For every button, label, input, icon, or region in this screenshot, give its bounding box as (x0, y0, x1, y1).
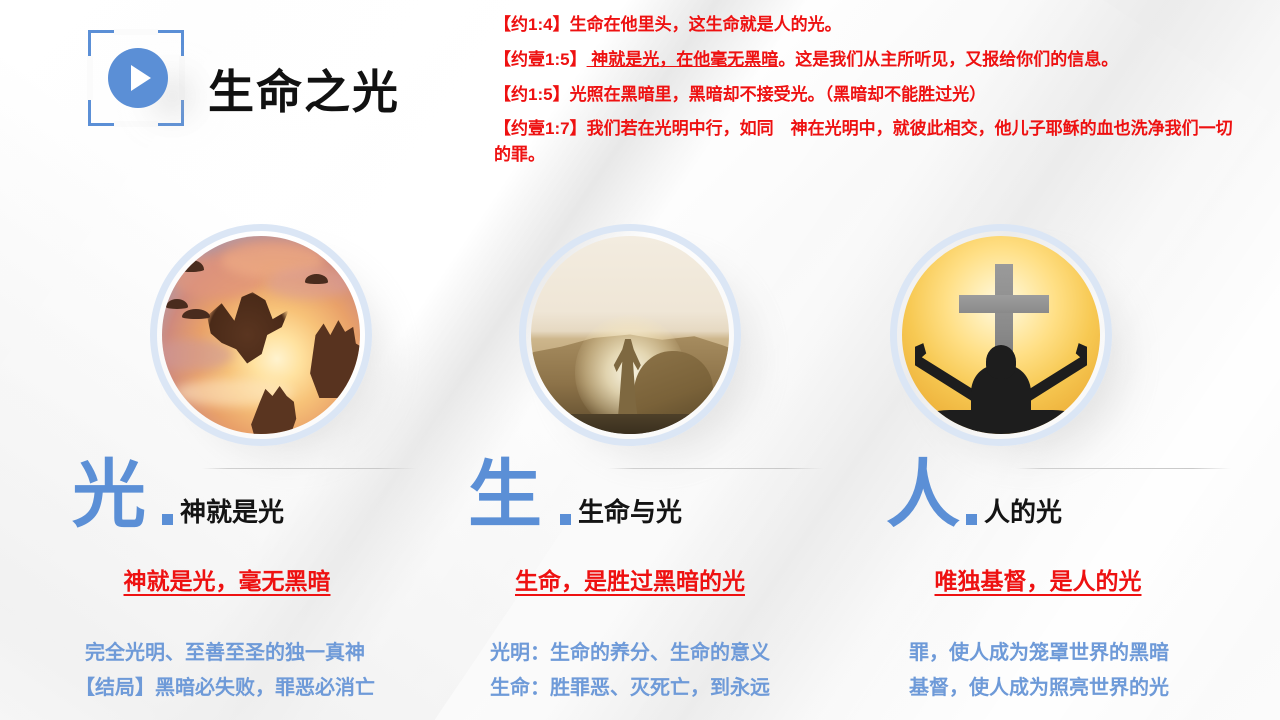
verse-reference: 【约1:4】 (494, 15, 570, 34)
column-red-heading: 唯独基督，是人的光 (828, 562, 1248, 596)
column-header: 生 生命与光 (420, 462, 840, 534)
header-rule (1016, 468, 1231, 469)
verse-text: 生命在他里头，这生命就是人的光。 (570, 15, 842, 34)
column-red-heading: 神就是光，毫无黑暗 (14, 562, 434, 596)
slide-canvas: 生命之光 【约1:4】生命在他里头，这生命就是人的光。 【约壹1:5】 神就是光… (0, 0, 1280, 720)
body-line: 生命：胜罪恶、灭死亡，到永远 (420, 671, 840, 706)
column-accent-dot (966, 514, 977, 525)
column-image-man (890, 224, 1112, 446)
column-header: 人 人的光 (828, 462, 1248, 534)
verse-text-underlined: 神就是光，在他毫无黑暗 (587, 50, 779, 69)
verse-text: 。这是我们从主所听见，又报给你们的信息。 (778, 50, 1118, 69)
column-big-char: 生 (468, 458, 542, 532)
column-image-life (519, 224, 741, 446)
play-triangle (131, 65, 151, 91)
column-accent-dot (162, 514, 173, 525)
column-big-char: 光 (72, 458, 146, 532)
column-body: 完全光明、至善至圣的独一真神 【结局】黑暗必失败，罪恶必消亡 (14, 636, 434, 706)
column-red-heading: 生命，是胜过黑暗的光 (420, 562, 840, 596)
column-man: 人 人的光 唯独基督，是人的光 罪，使人成为笼罩世界的黑暗 基督，使人成为照亮世… (828, 462, 1248, 706)
verse-1john-1-5: 【约壹1:5】 神就是光，在他毫无黑暗。这是我们从主所听见，又报给你们的信息。 (494, 47, 1236, 73)
column-big-char: 人 (886, 458, 960, 532)
frame-gap-left (87, 56, 93, 100)
column-body: 罪，使人成为笼罩世界的黑暗 基督，使人成为照亮世界的光 (828, 636, 1248, 706)
frame-gap-bottom (114, 121, 158, 127)
column-subtitle: 人的光 (984, 492, 1062, 529)
body-line: 罪，使人成为笼罩世界的黑暗 (830, 636, 1248, 671)
frame-gap-top (114, 29, 158, 35)
column-subtitle: 神就是光 (180, 492, 284, 529)
scripture-block: 【约1:4】生命在他里头，这生命就是人的光。 【约壹1:5】 神就是光，在他毫无… (494, 12, 1236, 177)
page-title: 生命之光 (208, 56, 400, 122)
column-image-light (150, 224, 372, 446)
header-rule (202, 468, 417, 469)
verse-reference: 【约壹1:7】 (494, 119, 587, 138)
column-accent-dot (560, 514, 571, 525)
image-ring (519, 224, 741, 446)
column-light: 光 神就是光 神就是光，毫无黑暗 完全光明、至善至圣的独一真神 【结局】黑暗必失… (14, 462, 434, 706)
image-ring (890, 224, 1112, 446)
column-subtitle: 生命与光 (578, 492, 682, 529)
column-life: 生 生命与光 生命，是胜过黑暗的光 光明：生命的养分、生命的意义 生命：胜罪恶、… (420, 462, 840, 706)
header-branding: 生命之光 (88, 26, 488, 136)
body-line: 【结局】黑暗必失败，罪恶必消亡 (16, 671, 434, 706)
verse-reference: 【约1:5】 (494, 85, 570, 104)
verse-text: 光照在黑暗里，黑暗却不接受光。（黑暗却不能胜过光） (570, 85, 987, 104)
body-line: 完全光明、至善至圣的独一真神 (16, 636, 434, 671)
frame-gap-right (179, 56, 185, 100)
image-ring (150, 224, 372, 446)
verse-john-1-5: 【约1:5】光照在黑暗里，黑暗却不接受光。（黑暗却不能胜过光） (494, 82, 1236, 108)
play-icon (108, 48, 168, 108)
verse-1john-1-7: 【约壹1:7】我们若在光明中行，如同 神在光明中，就彼此相交，他儿子耶稣的血也洗… (494, 116, 1236, 168)
verse-reference: 【约壹1:5】 (494, 50, 587, 69)
column-body: 光明：生命的养分、生命的意义 生命：胜罪恶、灭死亡，到永远 (420, 636, 840, 706)
header-rule (608, 468, 823, 469)
verse-text: 我们若在光明中行，如同 神在光明中，就彼此相交，他儿子耶稣的血也洗净我们一切的罪… (494, 119, 1233, 164)
body-line: 光明：生命的养分、生命的意义 (420, 636, 840, 671)
verse-john-1-4: 【约1:4】生命在他里头，这生命就是人的光。 (494, 12, 1236, 38)
body-line: 基督，使人成为照亮世界的光 (830, 671, 1248, 706)
column-header: 光 神就是光 (14, 462, 434, 534)
play-button-in-frame-icon (88, 30, 184, 126)
